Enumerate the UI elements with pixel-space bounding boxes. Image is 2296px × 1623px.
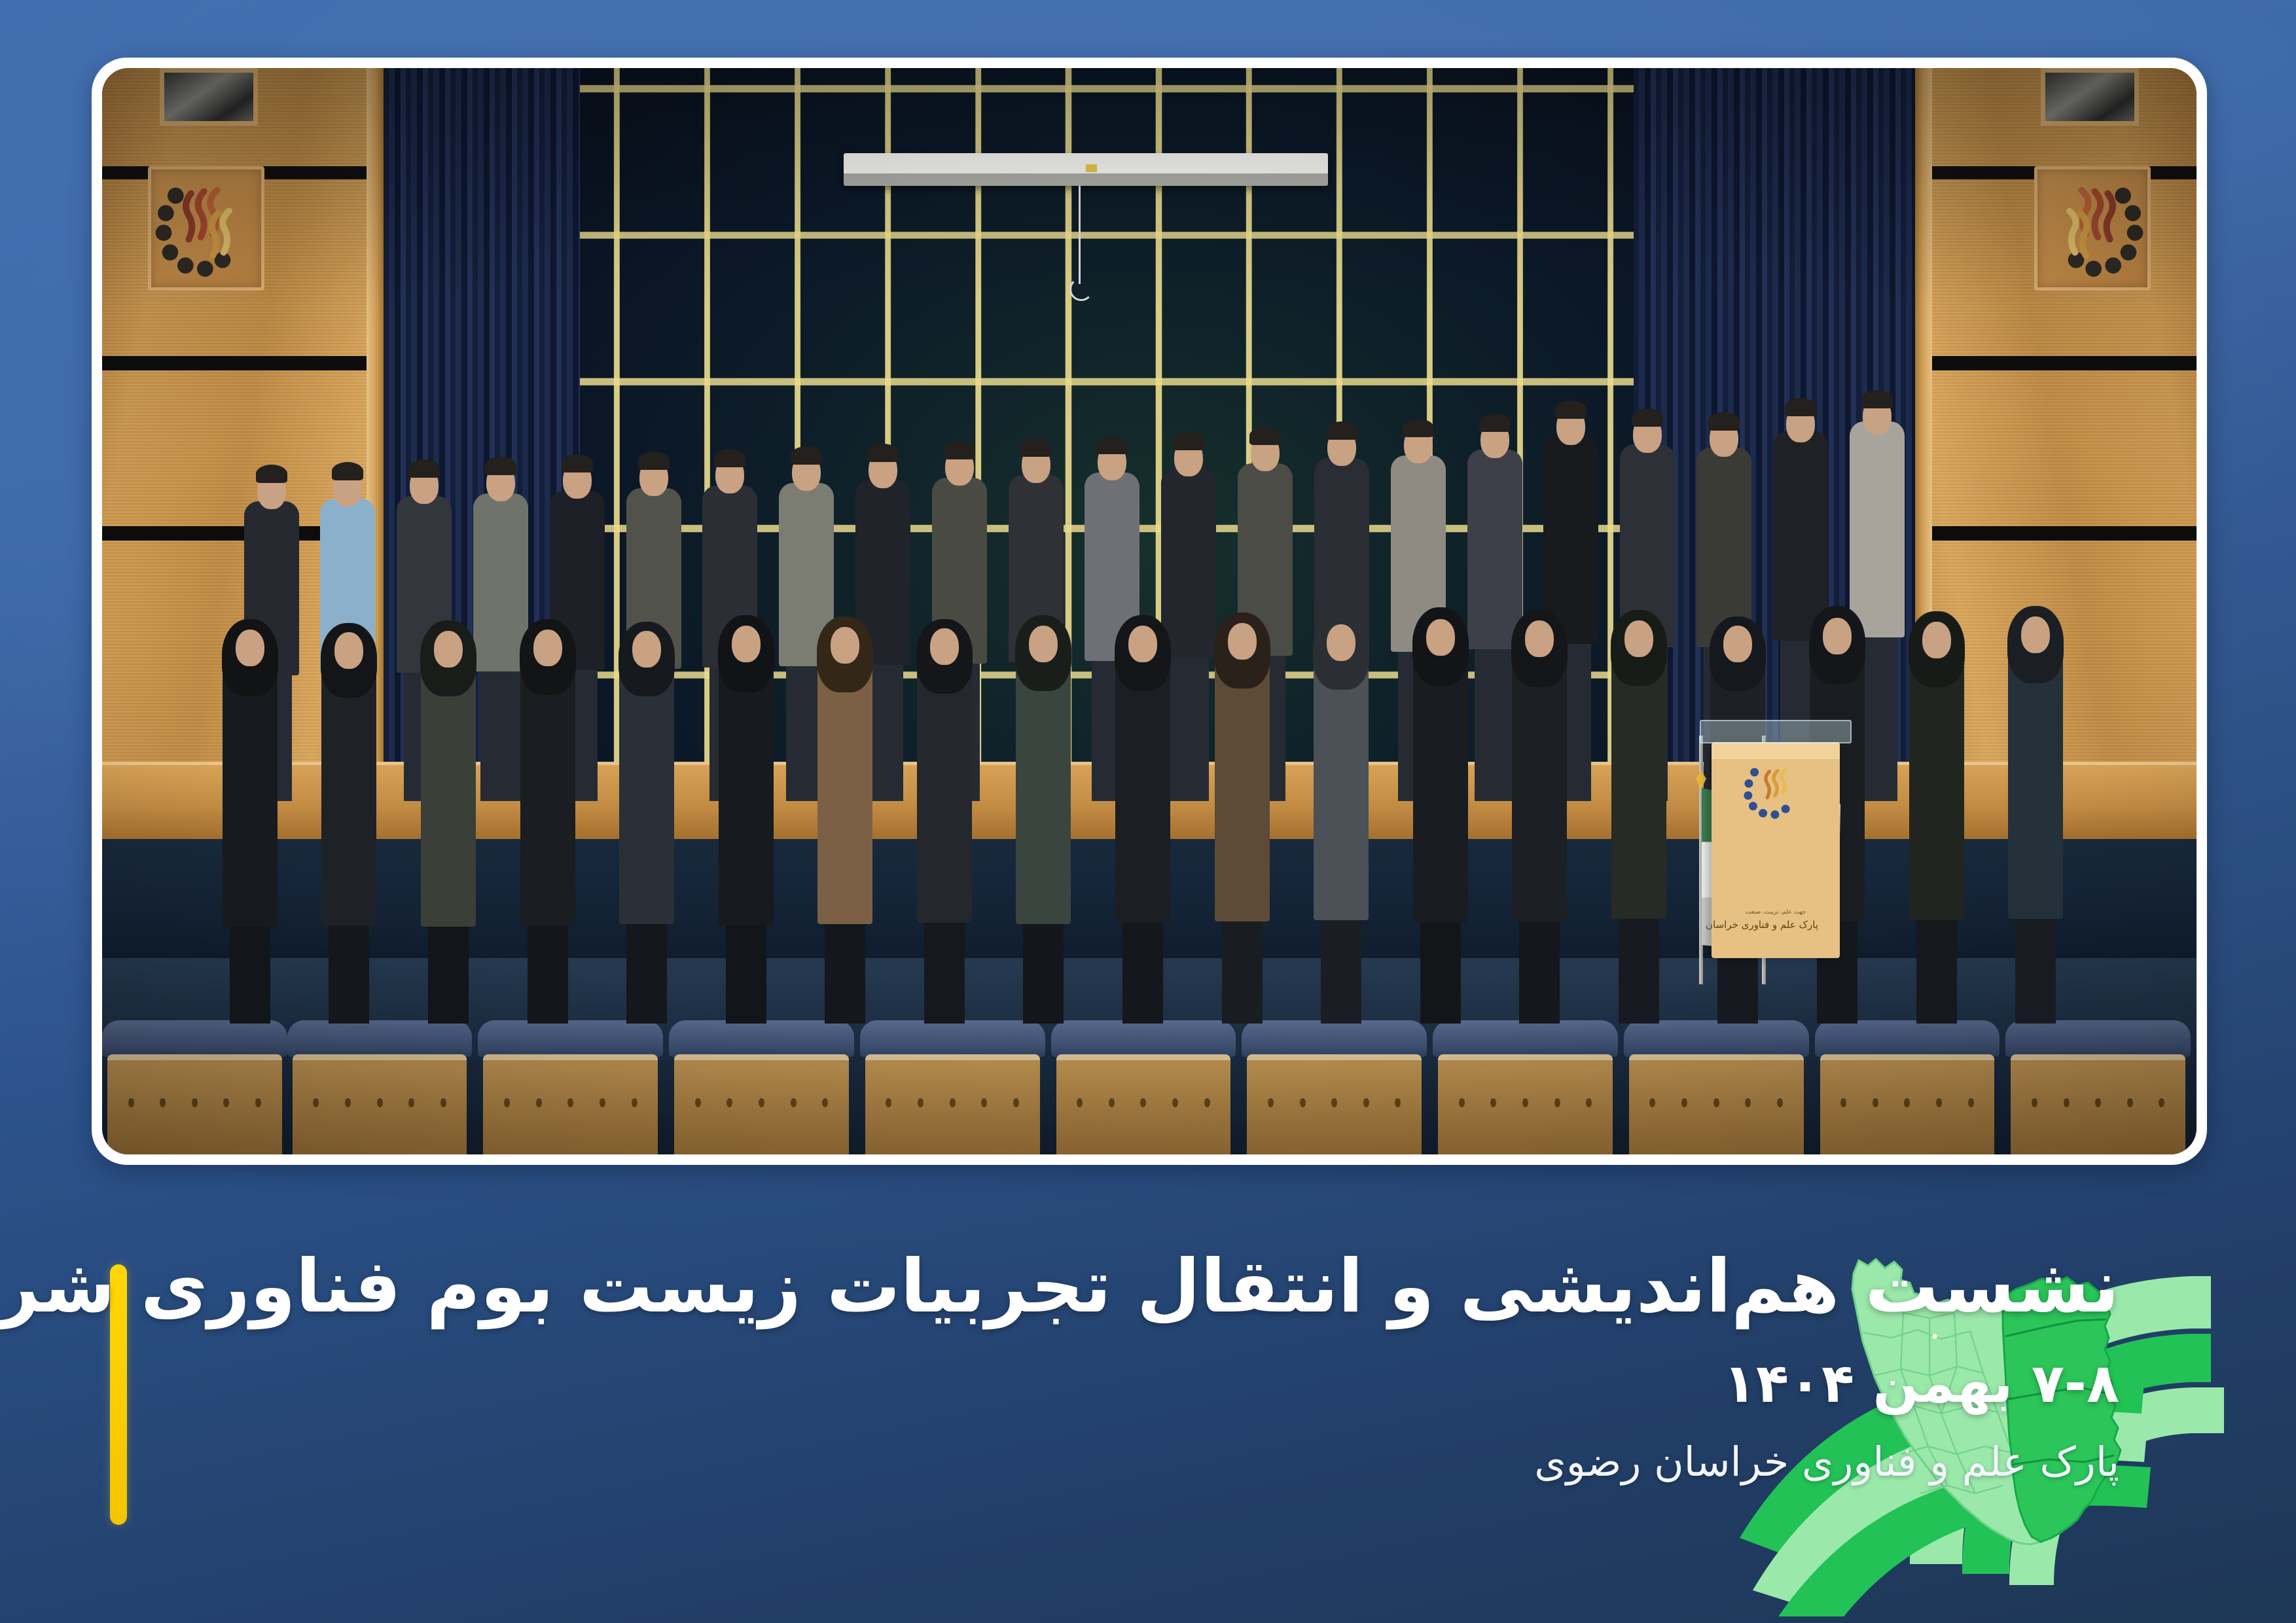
podium-caption-main: پارک علم و فناوری خراسان <box>1706 919 1818 931</box>
wall-window-right <box>2041 68 2139 126</box>
wall-window-left <box>160 68 258 126</box>
org-logo-plaque-left <box>148 166 264 291</box>
auditorium-seat-row <box>102 1020 2197 1154</box>
projection-screen <box>844 153 1328 186</box>
event-photo: جهت علم، تربیت، صنعت پارک علم و فناوری خ… <box>102 68 2197 1154</box>
event-photo-frame: جهت علم، تربیت، صنعت پارک علم و فناوری خ… <box>92 58 2207 1165</box>
auditorium-seat <box>860 1020 1045 1154</box>
auditorium-seat <box>1815 1020 2000 1154</box>
auditorium-seat <box>287 1020 473 1154</box>
person-figure <box>1986 533 2085 1024</box>
auditorium-seat <box>1242 1020 1427 1154</box>
auditorium-seat <box>1624 1020 1809 1154</box>
org-logo-plaque-right <box>2034 166 2151 291</box>
poster-canvas: جهت علم، تربیت، صنعت پارک علم و فناوری خ… <box>0 0 2296 1623</box>
caption-block: نشست هم‌اندیشی و انتقال تجربیات زیست بوم… <box>745 1243 2119 1487</box>
podium-caption: جهت علم، تربیت، صنعت پارک علم و فناوری خ… <box>1733 908 1818 932</box>
auditorium-seat <box>1433 1020 1618 1154</box>
podium-org-logo-icon <box>1740 757 1811 825</box>
podium-caption-small: جهت علم، تربیت، صنعت <box>1733 908 1818 918</box>
event-venue: پارک علم و فناوری خراسان رضوی <box>745 1436 2119 1488</box>
auditorium-seat <box>2005 1020 2191 1154</box>
podium: جهت علم، تربیت، صنعت پارک علم و فناوری خ… <box>1712 742 1840 958</box>
auditorium-seat <box>478 1020 663 1154</box>
auditorium-seat <box>1051 1020 1236 1154</box>
event-date: ۷-۸ بهمن ۱۴۰۴ <box>745 1352 2119 1416</box>
projection-screen-cord <box>1079 186 1081 284</box>
auditorium-seat <box>669 1020 854 1154</box>
podium-glass-top <box>1700 720 1852 743</box>
auditorium-seat <box>102 1020 287 1154</box>
event-title: نشست هم‌اندیشی و انتقال تجربیات زیست بوم… <box>745 1243 2119 1330</box>
